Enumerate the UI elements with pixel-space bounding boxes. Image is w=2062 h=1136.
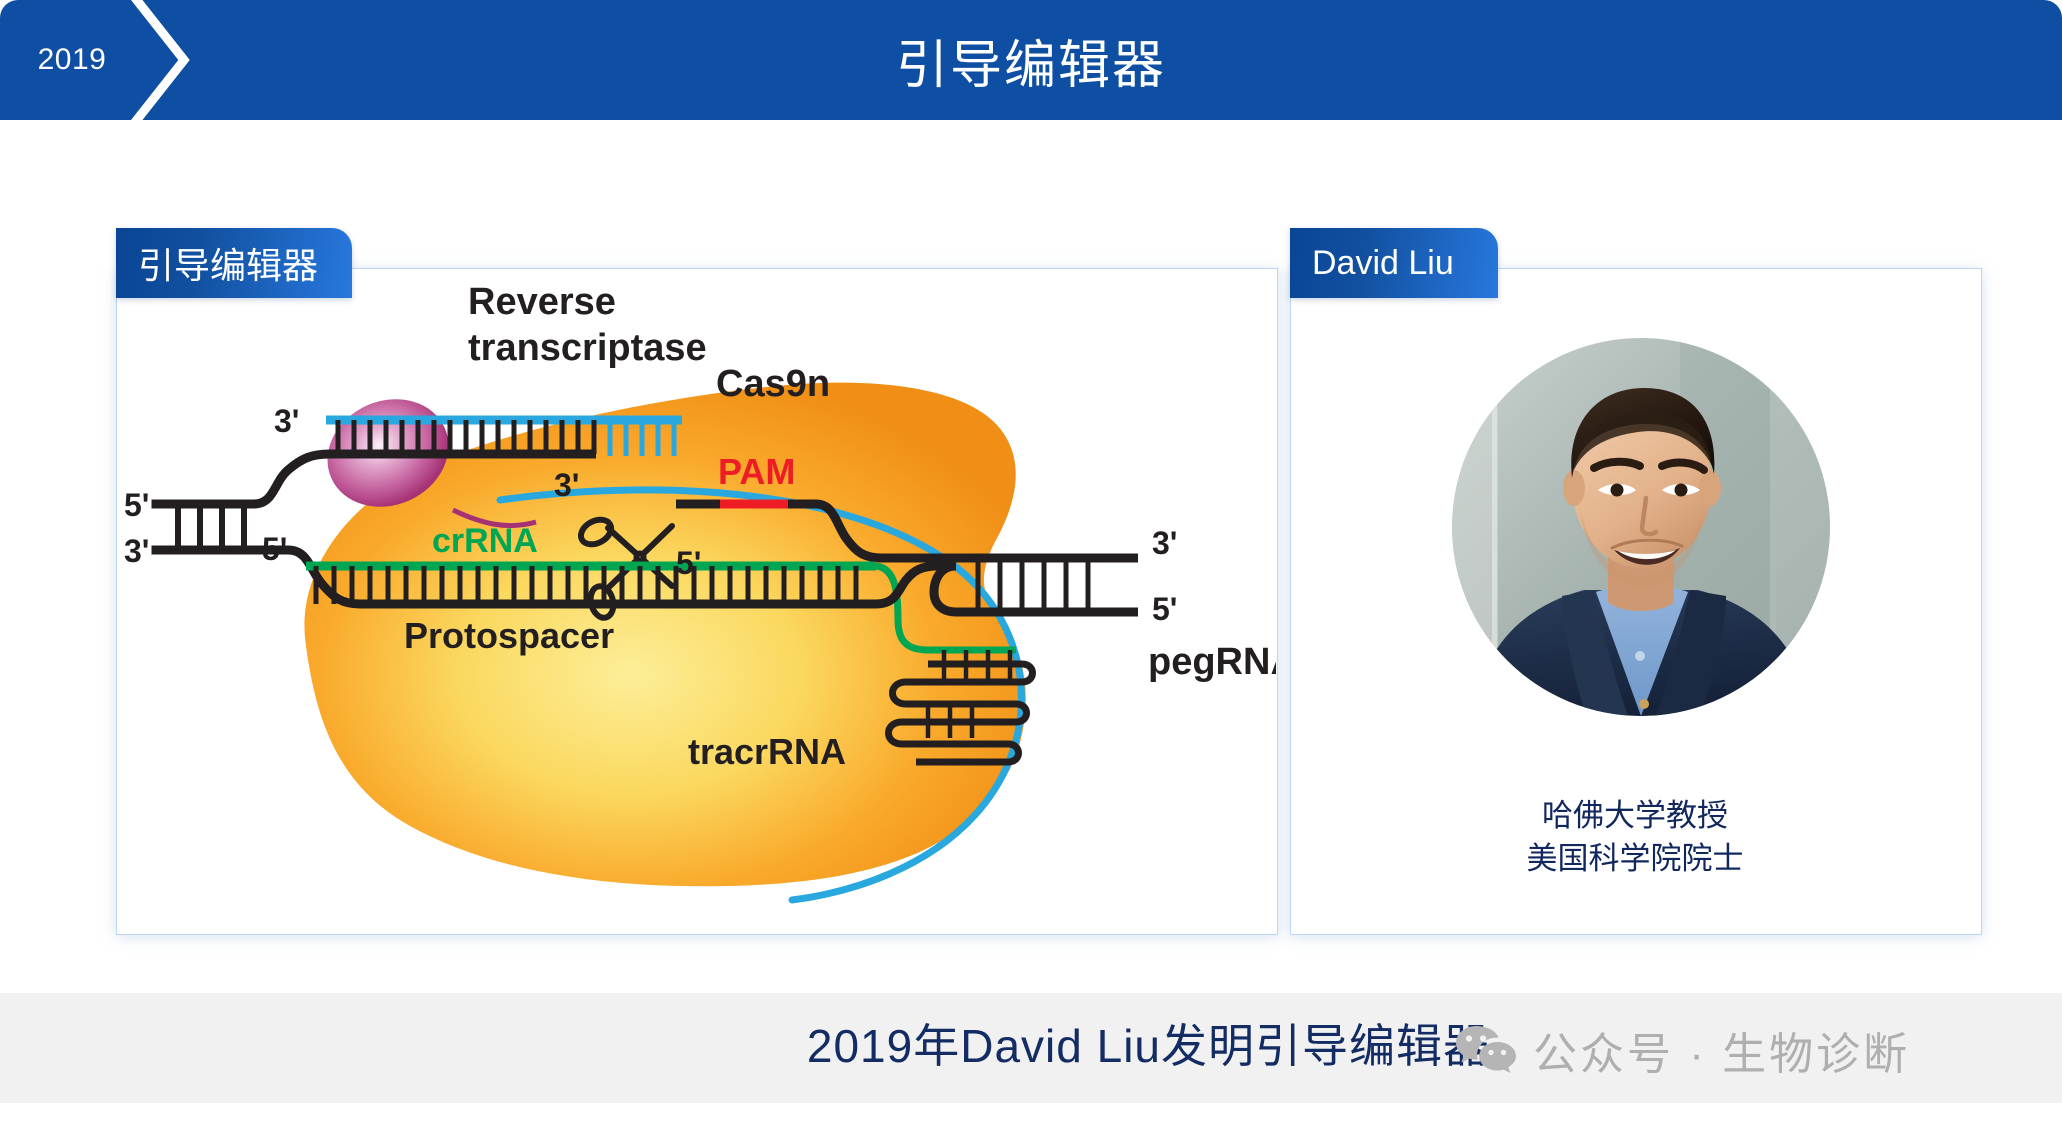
david-liu-avatar — [1452, 338, 1830, 716]
card-tab-david-liu[interactable]: David Liu — [1290, 228, 1498, 298]
page-title: 引导编辑器 — [0, 0, 2062, 120]
portrait-caption-line1: 哈佛大学教授 — [1290, 795, 1980, 838]
footer-brand-text: 公众号 · 生物诊断 — [1533, 1018, 1910, 1082]
card-tab-david-liu-label: David Liu — [1312, 244, 1454, 283]
chevron-right-icon — [118, 0, 198, 120]
footer-caption: 2019年David Liu发明引导编辑器 — [0, 1010, 1490, 1076]
card-prime-editor — [116, 268, 1278, 935]
slide-header: 引导编辑器 2019 — [0, 0, 2062, 120]
card-tab-prime-editor[interactable]: 引导编辑器 — [116, 228, 352, 298]
wechat-icon — [1455, 1024, 1517, 1076]
portrait-caption: 哈佛大学教授 美国科学院院士 — [1290, 795, 1980, 881]
footer-brand: 公众号 · 生物诊断 — [1455, 1018, 1910, 1082]
card-tab-prime-editor-label: 引导编辑器 — [138, 237, 318, 289]
portrait-caption-line2: 美国科学院院士 — [1290, 838, 1980, 881]
